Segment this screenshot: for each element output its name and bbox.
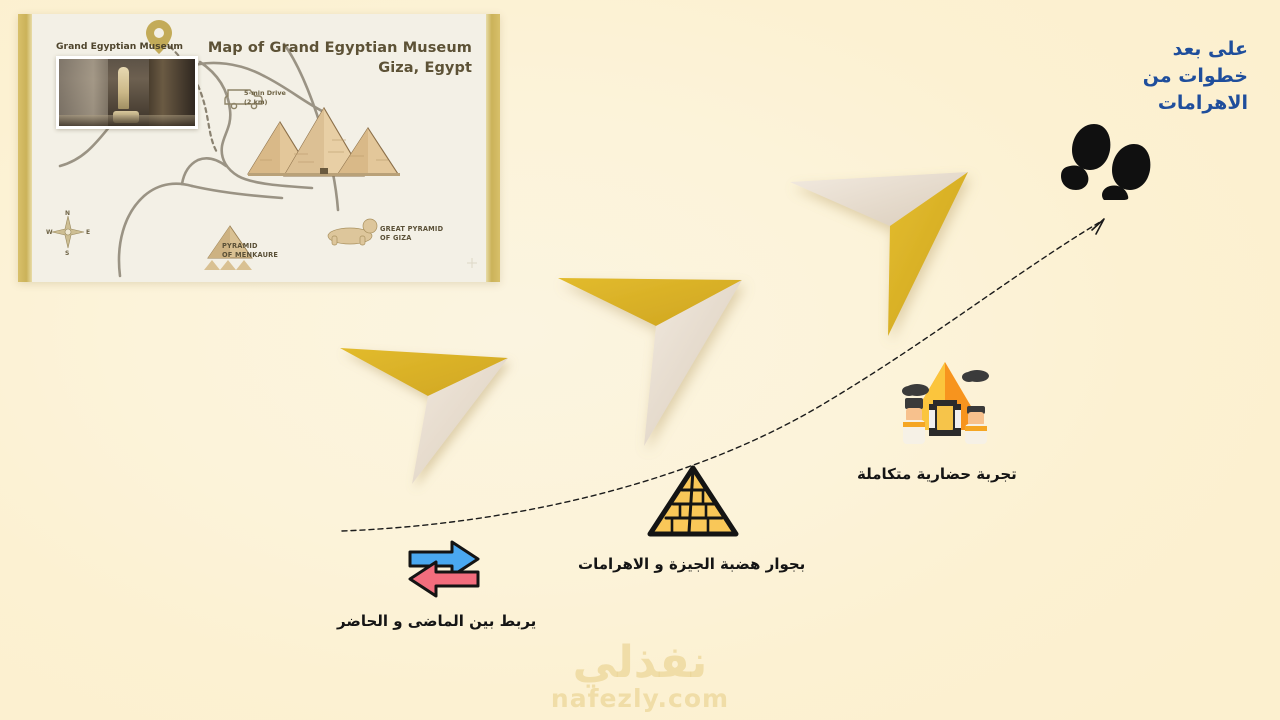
map-poi-menkaure: PYRAMID OF MENKAURE (222, 242, 278, 260)
map-poi-great-pyramid: GREAT PYRAMID OF GIZA (380, 225, 443, 243)
map-title-line1: Map of Grand Egyptian Museum (208, 38, 472, 58)
compass-east-label: E (86, 229, 90, 236)
map-frame-left-edge (18, 14, 32, 282)
poi-great-pyramid-line1: GREAT PYRAMID (380, 225, 443, 234)
drive-time-line1: 5-min Drive (244, 89, 286, 98)
caption-giza-plateau: بجوار هضبة الجيزة و الاهرامات (578, 555, 805, 573)
exchange-arrows-icon (404, 540, 484, 602)
drive-time-label: 5-min Drive (2 km) (244, 89, 286, 106)
headline-line-1: على بعد (1028, 36, 1248, 63)
drive-time-line2: (2 km) (244, 98, 286, 107)
chevron-arrow-1 (338, 334, 520, 486)
museum-thumbnail (56, 56, 198, 129)
egyptian-figures-icon (893, 356, 997, 450)
footprints-icon (1058, 118, 1156, 204)
chevron-arrow-3 (788, 158, 988, 368)
poi-menkaure-line2: OF MENKAURE (222, 251, 278, 260)
slide-canvas: Map of Grand Egyptian Museum Giza, Egypt… (0, 0, 1280, 720)
watermark: نفذلي nafezly.com (0, 641, 1280, 714)
map-title: Map of Grand Egyptian Museum Giza, Egypt (208, 38, 472, 78)
headline: على بعد خطوات من الاهرامات (1028, 36, 1248, 117)
museum-label: Grand Egyptian Museum (56, 41, 183, 52)
poi-menkaure-line1: PYRAMID (222, 242, 278, 251)
caption-past-present: يربط بين الماضى و الحاضر (337, 612, 536, 630)
compass-rose (52, 216, 84, 248)
caption-cultural-experience: تجربة حضارية متكاملة (857, 465, 1017, 483)
headline-line-3: الاهرامات (1028, 90, 1248, 117)
map-title-line2: Giza, Egypt (208, 58, 472, 78)
map-panel[interactable]: Map of Grand Egyptian Museum Giza, Egypt… (18, 14, 500, 282)
watermark-arabic: نفذلي (0, 641, 1280, 685)
chevron-arrow-2 (556, 266, 756, 448)
map-canvas: Map of Grand Egyptian Museum Giza, Egypt… (32, 14, 486, 282)
headline-line-2: خطوات من (1028, 63, 1248, 90)
watermark-latin: nafezly.com (0, 685, 1280, 714)
compass-south-label: S (65, 250, 69, 257)
compass-west-label: W (46, 229, 53, 236)
poi-great-pyramid-line2: OF GIZA (380, 234, 443, 243)
map-frame-right-edge (486, 14, 500, 282)
compass-north-label: N (65, 210, 70, 217)
pyramid-icon (646, 464, 740, 538)
